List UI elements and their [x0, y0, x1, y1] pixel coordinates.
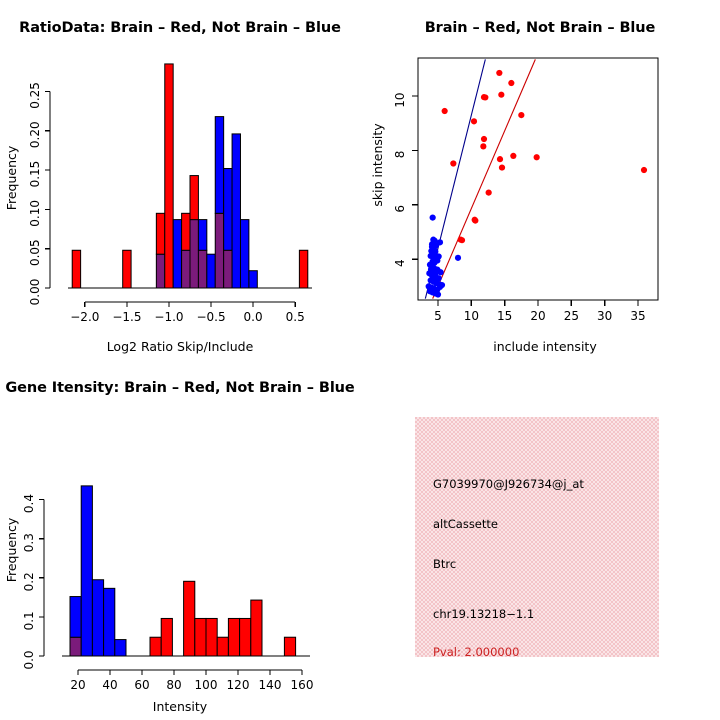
histogram-bar — [215, 117, 223, 214]
histogram-bar — [228, 618, 239, 656]
histogram-bar — [251, 600, 262, 656]
histogram-bar — [173, 220, 181, 288]
scatter-point — [480, 143, 486, 149]
scatter-content — [418, 58, 658, 300]
histogram-bar — [195, 618, 206, 656]
scatter-point — [482, 94, 488, 100]
scatter-point — [459, 237, 465, 243]
axis-tick-label: 40 — [102, 678, 117, 692]
axis-tick-label: 80 — [166, 678, 181, 692]
histogram-bar — [215, 213, 223, 288]
histogram-bar — [104, 588, 115, 656]
ratio-histogram-bars — [72, 64, 308, 288]
axis-tick-label: 0.0 — [22, 650, 36, 669]
histogram-bar — [72, 250, 80, 288]
info-locus: chr19.13218−1.1 — [433, 607, 534, 621]
histogram-bar — [190, 220, 198, 288]
axis-tick-label: −0.5 — [196, 310, 225, 324]
axis-tick-label: 60 — [134, 678, 149, 692]
scatter-title: Brain – Red, Not Brain – Blue — [360, 20, 720, 36]
axis-tick-label: 0.10 — [28, 200, 42, 227]
histogram-bar — [165, 64, 173, 288]
axis-tick-label: 6 — [393, 205, 407, 213]
histogram-bar — [182, 213, 190, 250]
axis-tick-label: 35 — [630, 309, 645, 323]
gene-histogram-plot: 0.00.10.20.30.420406080100120140160 Inte… — [0, 360, 360, 720]
axis-tick-label: 8 — [393, 151, 407, 159]
axis-tick-label: −1.0 — [154, 310, 183, 324]
histogram-bar — [70, 637, 81, 656]
scatter-point — [437, 284, 443, 290]
gene-yaxis-label: Frequency — [4, 517, 19, 582]
axis-tick-label: 0.05 — [28, 239, 42, 266]
axis-tick-label: 20 — [530, 309, 545, 323]
axis-tick-label: −2.0 — [70, 310, 99, 324]
scatter-point — [481, 136, 487, 142]
scatter-point — [435, 291, 441, 297]
histogram-bar — [156, 213, 164, 254]
axis-tick-label: 0.0 — [244, 310, 263, 324]
panel-scatter: Brain – Red, Not Brain – Blue 4681051015… — [360, 0, 720, 360]
gene-histogram-axes: 0.00.10.20.30.420406080100120140160 — [22, 494, 313, 692]
axis-tick-label: 0.25 — [28, 82, 42, 109]
axis-tick-label: 0.4 — [22, 494, 36, 513]
scatter-point — [510, 153, 516, 159]
histogram-bar — [184, 581, 195, 656]
histogram-bar — [92, 580, 103, 656]
ratio-xaxis-label: Log2 Ratio Skip/Include — [107, 339, 254, 354]
histogram-bar — [299, 250, 307, 288]
axis-tick-label: 0.15 — [28, 161, 42, 188]
ratio-histogram-plot: 0.000.050.100.150.200.25−2.0−1.5−1.0−0.5… — [0, 0, 360, 360]
histogram-bar — [156, 254, 164, 288]
scatter-point — [442, 108, 448, 114]
figure-canvas: RatioData: Brain – Red, Not Brain – Blue… — [0, 0, 720, 720]
scatter-point — [438, 269, 444, 275]
panel-ratio-histogram: RatioData: Brain – Red, Not Brain – Blue… — [0, 0, 360, 360]
scatter-point — [433, 277, 439, 283]
scatter-point — [499, 164, 505, 170]
histogram-bar — [81, 486, 92, 656]
scatter-point — [508, 80, 514, 86]
axis-tick-label: 5 — [434, 309, 442, 323]
axis-tick-label: 4 — [393, 259, 407, 267]
histogram-bar — [182, 250, 190, 288]
scatter-point — [534, 154, 540, 160]
histogram-bar — [190, 176, 198, 220]
axis-tick-label: 0.00 — [28, 279, 42, 306]
scatter-xaxis-label: include intensity — [493, 339, 597, 354]
gene-histogram-bars — [70, 486, 296, 656]
histogram-bar — [232, 134, 240, 288]
panel-gene-histogram: Gene Itensity: Brain – Red, Not Brain – … — [0, 360, 360, 720]
scatter-point — [641, 167, 647, 173]
histogram-bar — [224, 168, 232, 250]
scatter-point — [497, 156, 503, 162]
axis-tick-label: 0.1 — [22, 611, 36, 630]
scatter-point — [434, 257, 440, 263]
scatter-plot-box — [418, 58, 658, 300]
axis-tick-label: 140 — [259, 678, 282, 692]
gene-xaxis-label: Intensity — [153, 699, 208, 714]
scatter-point — [498, 92, 504, 98]
axis-tick-label: 10 — [393, 92, 407, 107]
scatter-points-group — [425, 59, 647, 298]
axis-tick-label: 15 — [497, 309, 512, 323]
histogram-bar — [198, 250, 206, 288]
histogram-bar — [206, 618, 217, 656]
axis-tick-label: 25 — [564, 309, 579, 323]
axis-tick-label: 10 — [464, 309, 479, 323]
histogram-bar — [150, 637, 161, 656]
ratio-histogram-title: RatioData: Brain – Red, Not Brain – Blue — [0, 20, 360, 36]
scatter-point — [450, 160, 456, 166]
axis-tick-label: −1.5 — [112, 310, 141, 324]
histogram-bar — [284, 637, 295, 656]
ratio-yaxis-label: Frequency — [4, 145, 19, 210]
axis-tick-label: 100 — [195, 678, 218, 692]
gene-histogram-title: Gene Itensity: Brain – Red, Not Brain – … — [0, 380, 360, 396]
scatter-point — [455, 255, 461, 261]
histogram-bar — [240, 618, 251, 656]
axis-tick-label: 0.5 — [286, 310, 305, 324]
axis-tick-label: 0.20 — [28, 121, 42, 148]
panel-info: G7039970@J926734@j_at altCassette Btrc c… — [360, 360, 720, 720]
histogram-bar — [240, 220, 248, 288]
info-probe-id: G7039970@J926734@j_at — [433, 477, 584, 491]
info-box: G7039970@J926734@j_at altCassette Btrc c… — [415, 417, 659, 657]
scatter-point — [518, 112, 524, 118]
histogram-bar — [115, 640, 126, 656]
histogram-bar — [217, 637, 228, 656]
scatter-point — [496, 70, 502, 76]
info-gene-symbol: Btrc — [433, 557, 456, 571]
scatter-point — [428, 266, 434, 272]
histogram-bar — [123, 250, 131, 288]
axis-tick-label: 0.2 — [22, 572, 36, 591]
axis-tick-label: 0.3 — [22, 533, 36, 552]
scatter-point — [486, 189, 492, 195]
histogram-bar — [224, 250, 232, 288]
histogram-bar — [207, 254, 215, 288]
axis-tick-label: 160 — [291, 678, 314, 692]
scatter-point — [433, 243, 439, 249]
axis-tick-label: 30 — [597, 309, 612, 323]
histogram-bar — [70, 597, 81, 638]
axis-tick-label: 120 — [227, 678, 250, 692]
histogram-bar — [161, 618, 172, 656]
scatter-point — [471, 118, 477, 124]
axis-tick-label: 20 — [70, 678, 85, 692]
histogram-bar — [249, 271, 257, 288]
scatter-point — [430, 215, 436, 221]
info-event-type: altCassette — [433, 517, 498, 531]
scatter-plot: 468105101520253035 include intensity ski… — [360, 0, 720, 360]
scatter-yaxis-label: skip intensity — [370, 123, 385, 207]
scatter-point — [472, 218, 478, 224]
info-pvalue: Pval: 2.000000 — [433, 645, 519, 659]
histogram-bar — [198, 220, 206, 251]
